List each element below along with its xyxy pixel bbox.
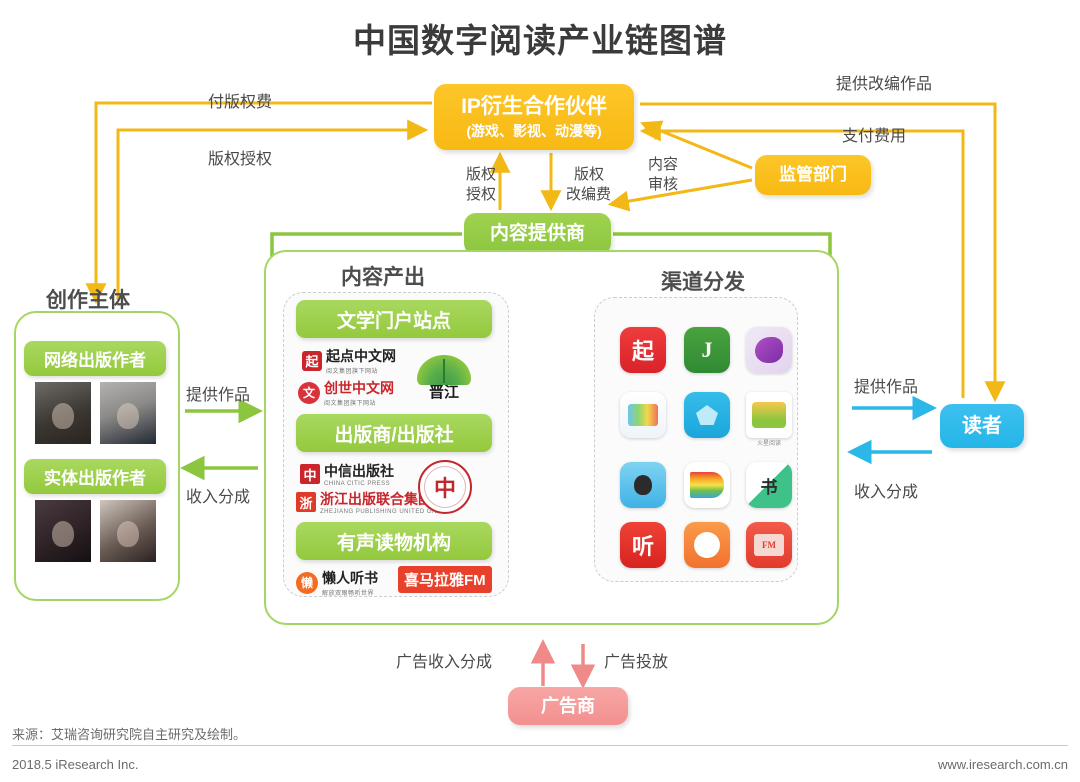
label-copyright-license-left: 版权授权 <box>208 145 272 169</box>
label-content-review-2: 审核 <box>648 173 678 194</box>
author-photo-4 <box>100 500 156 562</box>
app-icon-jinjiang[interactable]: J <box>684 327 730 373</box>
app-icon-weixin-dushu[interactable] <box>684 392 730 438</box>
channel-group-label: 渠道分发 <box>661 266 745 296</box>
label-adaptation-fee-2: 改编费 <box>566 183 611 204</box>
ximalaya-name: 喜马拉雅FM <box>398 566 492 593</box>
citic-mark: 中 <box>300 464 320 484</box>
label-provide-works-right: 提供作品 <box>854 373 918 397</box>
app-icon-duocai-bookshelf[interactable] <box>684 462 730 508</box>
page-title: 中国数字阅读产业链图谱 <box>0 14 1080 62</box>
website-link[interactable]: www.iresearch.com.cn <box>938 757 1068 772</box>
qidian-name: 起点中文网 阅文集团旗下网站 <box>326 346 396 375</box>
label-ad-revenue-share: 广告收入分成 <box>396 648 492 672</box>
node-regulator[interactable]: 监管部门 <box>755 155 871 195</box>
qidian-mark: 起 <box>302 351 322 371</box>
chuangshi-mark: 文 <box>298 382 320 404</box>
node-advertiser[interactable]: 广告商 <box>508 687 628 725</box>
author-photo-3 <box>35 500 91 562</box>
app-icon-tingshu[interactable]: 听 <box>620 522 666 568</box>
section-publishers[interactable]: 出版商/出版社 <box>296 414 492 452</box>
node-content-provider[interactable]: 内容提供商 <box>464 213 611 255</box>
label-provide-adapted-works: 提供改编作品 <box>836 70 932 94</box>
app-caption-huoxing: 火星阅读 <box>739 438 799 447</box>
label-pay-copyright-fee: 付版权费 <box>208 88 272 112</box>
section-audiobook-orgs[interactable]: 有声读物机构 <box>296 522 492 560</box>
label-license-up-1: 版权 <box>466 163 496 184</box>
citic-name: 中信出版社 CHINA CITIC PRESS <box>324 461 394 487</box>
zhongnan-mark: 中 <box>418 460 472 514</box>
author-photo-2 <box>100 382 156 444</box>
creator-type-online-authors[interactable]: 网络出版作者 <box>24 341 166 376</box>
copyright-note: 2018.5 iResearch Inc. <box>12 757 138 772</box>
source-note: 来源：艾瑞咨询研究院自主研究及绘制。 <box>12 724 246 743</box>
lanren-name: 懒人听书 解放双眼畅听世界 <box>322 568 378 597</box>
logo-jinjiang: 晋江 <box>412 352 476 404</box>
creators-group-label: 创作主体 <box>46 284 130 314</box>
app-icon-duokan[interactable] <box>620 392 666 438</box>
lanren-mark: 懒 <box>296 572 318 594</box>
chuangshi-name: 创世中文网 阅文集团旗下网站 <box>324 378 394 407</box>
label-provide-works-left: 提供作品 <box>186 381 250 405</box>
logo-zhongnan-seal: 中 <box>418 460 472 514</box>
node-readers[interactable]: 读者 <box>940 404 1024 448</box>
ip-partners-title: IP衍生合作伙伴 <box>461 95 607 119</box>
jinjiang-emblem: 晋江 <box>412 352 476 404</box>
logo-lanren-tingshu: 懒 懒人听书 解放双眼畅听世界 <box>296 568 378 597</box>
label-pay-fee: 支付费用 <box>842 122 906 146</box>
logo-qidian: 起 起点中文网 阅文集团旗下网站 <box>302 346 396 375</box>
app-icon-huoxing-yuedu[interactable] <box>746 392 792 438</box>
footer-divider <box>12 745 1068 746</box>
app-icon-shuqi-novel[interactable]: 书 <box>746 462 792 508</box>
label-content-review-1: 内容 <box>648 153 678 174</box>
logo-citic: 中 中信出版社 CHINA CITIC PRESS <box>300 461 394 487</box>
ip-partners-subtitle: (游戏、影视、动漫等) <box>466 123 601 139</box>
node-ip-partners[interactable]: IP衍生合作伙伴 (游戏、影视、动漫等) <box>434 84 634 150</box>
content-output-group-label: 内容产出 <box>341 261 425 291</box>
app-icon-qq-reading[interactable] <box>620 462 666 508</box>
logo-ximalaya-fm: 喜马拉雅FM <box>398 566 492 593</box>
label-ad-placement: 广告投放 <box>604 648 668 672</box>
label-license-up-2: 授权 <box>466 183 496 204</box>
wire-regulator-to-provider <box>612 180 752 204</box>
label-revenue-share-left: 收入分成 <box>186 483 250 507</box>
author-photo-1 <box>35 382 91 444</box>
label-revenue-share-right: 收入分成 <box>854 478 918 502</box>
section-literature-portals[interactable]: 文学门户站点 <box>296 300 492 338</box>
label-adaptation-fee-1: 版权 <box>574 163 604 184</box>
zhejiang-mark: 浙 <box>296 492 316 512</box>
app-icon-qingting-fm[interactable]: FM <box>746 522 792 568</box>
app-icon-lanren-tingshu[interactable] <box>684 522 730 568</box>
diagram-canvas: 中国数字阅读产业链图谱 <box>0 0 1080 782</box>
creator-type-print-authors[interactable]: 实体出版作者 <box>24 459 166 494</box>
logo-chuangshi: 文 创世中文网 阅文集团旗下网站 <box>298 378 394 407</box>
app-icon-qidian[interactable]: 起 <box>620 327 666 373</box>
app-icon-xiaoxiang[interactable] <box>746 327 792 373</box>
